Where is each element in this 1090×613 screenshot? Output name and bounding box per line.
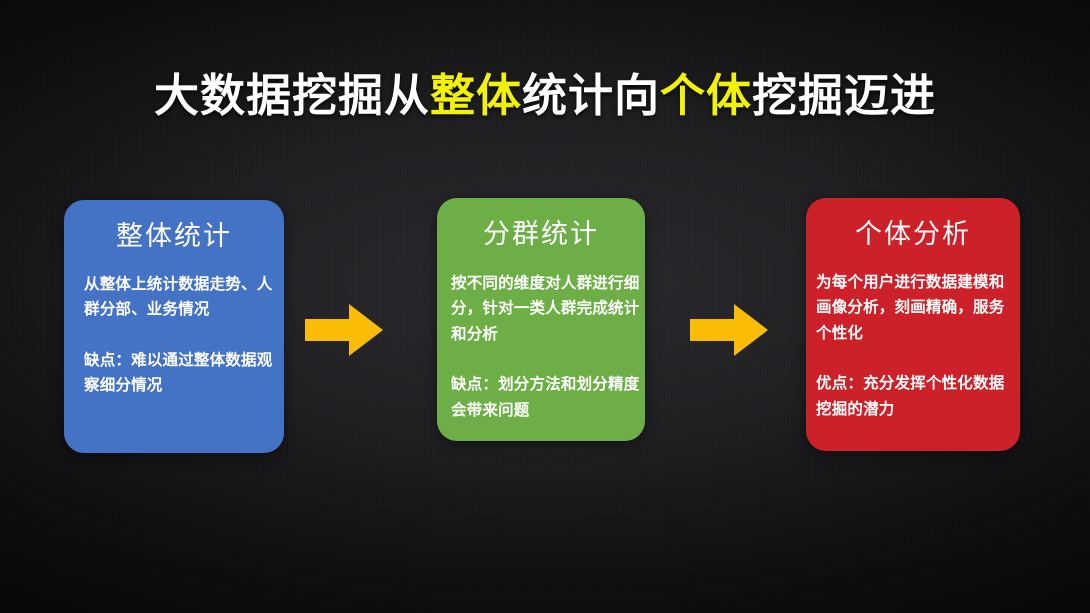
title-segment-5: 挖掘迈进 xyxy=(752,70,936,121)
title-segment-4-highlight: 个体 xyxy=(660,70,752,121)
card-overall-paragraph-2: 缺点：难以通过整体数据观察细分情况 xyxy=(84,348,284,399)
card-individual-heading: 个体分析 xyxy=(806,220,1020,250)
card-overall-heading: 整体统计 xyxy=(64,222,284,252)
card-group-paragraph-1: 按不同的维度对人群进行细分，针对一类人群完成统计和分析 xyxy=(451,271,645,348)
card-individual-paragraph-1: 为每个用户进行数据建模和画像分析，刻画精确，服务个性化 xyxy=(816,270,1020,347)
slide-canvas: 大数据挖掘从整体统计向个体挖掘迈进 整体统计 从整体上统计数据走势、人群分部、业… xyxy=(0,0,1090,613)
card-group-spacer xyxy=(451,347,645,372)
card-individual-analysis: 个体分析 为每个用户进行数据建模和画像分析，刻画精确，服务个性化 优点：充分发挥… xyxy=(806,198,1020,451)
card-group-body: 按不同的维度对人群进行细分，针对一类人群完成统计和分析 缺点：划分方法和划分精度… xyxy=(451,271,645,424)
card-overall-statistics: 整体统计 从整体上统计数据走势、人群分部、业务情况 缺点：难以通过整体数据观察细… xyxy=(64,200,284,453)
card-overall-body: 从整体上统计数据走势、人群分部、业务情况 缺点：难以通过整体数据观察细分情况 xyxy=(84,272,284,399)
card-group-statistics: 分群统计 按不同的维度对人群进行细分，针对一类人群完成统计和分析 缺点：划分方法… xyxy=(437,198,645,441)
card-individual-body: 为每个用户进行数据建模和画像分析，刻画精确，服务个性化 优点：充分发挥个性化数据… xyxy=(816,270,1020,423)
card-individual-spacer xyxy=(816,346,1020,371)
title-segment-1: 大数据挖掘从 xyxy=(154,70,430,121)
card-group-paragraph-2: 缺点：划分方法和划分精度会带来问题 xyxy=(451,372,645,423)
card-group-heading: 分群统计 xyxy=(437,220,645,250)
card-overall-spacer xyxy=(84,323,284,348)
arrow-right-icon-2 xyxy=(690,302,768,358)
title-segment-2-highlight: 整体 xyxy=(430,70,522,121)
card-individual-paragraph-2: 优点：充分发挥个性化数据挖掘的潜力 xyxy=(816,371,1020,422)
page-title: 大数据挖掘从整体统计向个体挖掘迈进 xyxy=(0,59,1090,124)
arrow-right-icon-1 xyxy=(305,302,383,358)
title-segment-3: 统计向 xyxy=(522,70,660,121)
card-overall-paragraph-1: 从整体上统计数据走势、人群分部、业务情况 xyxy=(84,272,284,323)
